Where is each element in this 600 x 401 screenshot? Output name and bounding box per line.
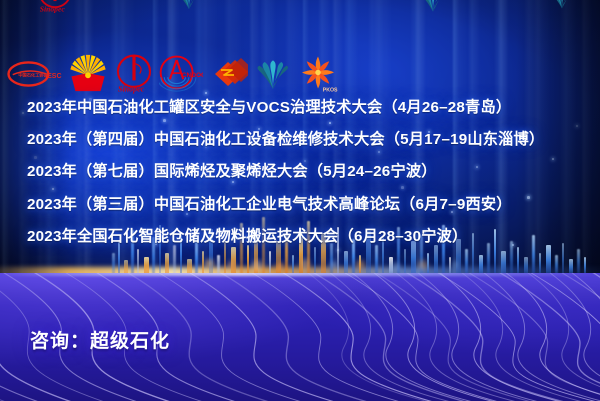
skyline-building [562, 243, 564, 275]
floor-wave-line [498, 273, 600, 401]
conference-list: 2023年中国石油化工罐区安全与VOCS治理技术大会（4月26–28青岛） 20… [27, 100, 587, 244]
skyline-bokeh [330, 261, 337, 268]
skyline-building [137, 249, 139, 275]
floor-wave-line [432, 273, 582, 401]
conference-line-2: 2023年（第四届）中国石油化工设备检维修技术大会（5月17–19山东淄博） [27, 132, 587, 147]
svg-text:CNOOC: CNOOC [182, 72, 203, 79]
logo-row-main: 中国石化工协会IESCSinopecCNOOCPKOS [6, 54, 338, 99]
skyline-building [539, 253, 541, 275]
contact-text: 咨询：超级石化 [30, 326, 170, 353]
skyline-building [375, 245, 378, 275]
conference-line-4: 2023年（第三届）中国石油化工企业电气技术高峰论坛（6月7–9西安） [27, 197, 587, 212]
floor-wave-line [476, 273, 600, 401]
sinopec-logo-cropped: Sinopec [36, 0, 74, 19]
floor-wave-line [397, 273, 584, 401]
conference-banner: Sinopec 中国石化工协会IESCSinopecCNOOCPKOS 2023… [0, 0, 600, 401]
skyline-bokeh [418, 260, 428, 270]
skyline-bokeh [205, 259, 214, 268]
skyline-bokeh [252, 260, 263, 271]
skyline-bokeh [356, 260, 365, 269]
skyline-building [411, 241, 416, 275]
svg-text:Sinopec: Sinopec [40, 4, 66, 13]
skyline-building [247, 245, 249, 275]
floor-wave-line [211, 273, 385, 401]
floor-wave-line [273, 273, 452, 401]
lotus-teal-logo-cropped [410, 0, 456, 20]
skyline-building [202, 251, 204, 275]
floor-wave-line [410, 273, 560, 401]
skyline-building [487, 243, 490, 275]
skyline-building [165, 253, 169, 275]
svg-text:中国石化工协会: 中国石化工协会 [18, 72, 48, 79]
floor-wave-line [149, 273, 319, 401]
skyline-bokeh [228, 261, 235, 268]
skyline-building [292, 255, 294, 275]
pinwheel-orange-logo: PKOS [298, 55, 338, 98]
skyline-building [577, 249, 580, 275]
skyline-building [465, 249, 468, 275]
skyline-building [195, 241, 198, 275]
floor-wave-line [552, 273, 600, 401]
skyline-building [404, 249, 406, 275]
floor-wave-line [564, 273, 600, 401]
conference-line-3: 2023年（第七届）国际烯烃及聚烯烃大会（5月24–26宁波） [27, 164, 587, 179]
lotus-teal-logo-cropped [170, 0, 208, 17]
floor-wave-line [180, 273, 352, 401]
skyline-building [269, 251, 271, 275]
skyline-building [434, 245, 438, 275]
logo-row-top-cropped: Sinopec [0, 0, 580, 20]
svg-text:Sinopec: Sinopec [118, 85, 145, 94]
skyline-building [546, 245, 551, 275]
floor-wave-line [388, 273, 538, 401]
skyline-building [173, 245, 176, 275]
skyline-building [501, 251, 506, 275]
conference-line-1: 2023年中国石油化工罐区安全与VOCS治理技术大会（4月26–28青岛） [27, 100, 587, 115]
skyline-building [510, 241, 513, 275]
conference-line-5: 2023年全国石化智能仓储及物料搬运技术大会（6月28–30宁波） [27, 229, 587, 244]
lotus-teal-logo-cropped [544, 0, 580, 16]
floor-wave-line [428, 273, 600, 401]
skyline-building [217, 255, 220, 275]
floor-wave-line [0, 273, 20, 401]
skyline-building [479, 255, 483, 275]
skyline-building [555, 255, 558, 275]
skyline-bokeh [452, 261, 459, 268]
skyline-building [118, 241, 120, 275]
floor-wave-line [520, 273, 600, 401]
skyline-bokeh [392, 262, 400, 270]
sinopec-logo: Sinopec [114, 54, 154, 99]
skyline-building [330, 243, 333, 275]
floor-wave-line [335, 273, 518, 401]
sinochem-logo [208, 57, 248, 96]
svg-text:IESC: IESC [45, 73, 61, 80]
skyline-building [344, 251, 348, 275]
cnpc-ellipse-iesc-logo: 中国石化工协会IESC [6, 58, 62, 95]
floor-wave-line [366, 273, 516, 401]
skyline-bokeh [276, 262, 284, 270]
skyline-bokeh [300, 259, 310, 269]
petrochina-cnpc-logo [67, 54, 109, 99]
lotus-teal-logo [253, 56, 293, 97]
skyline-building [112, 253, 115, 275]
cnooc-logo: CNOOC [159, 55, 203, 98]
skyline-building [314, 247, 316, 275]
skyline-building [517, 247, 519, 275]
floor-top-edge [0, 273, 600, 276]
svg-text:PKOS: PKOS [323, 87, 338, 93]
